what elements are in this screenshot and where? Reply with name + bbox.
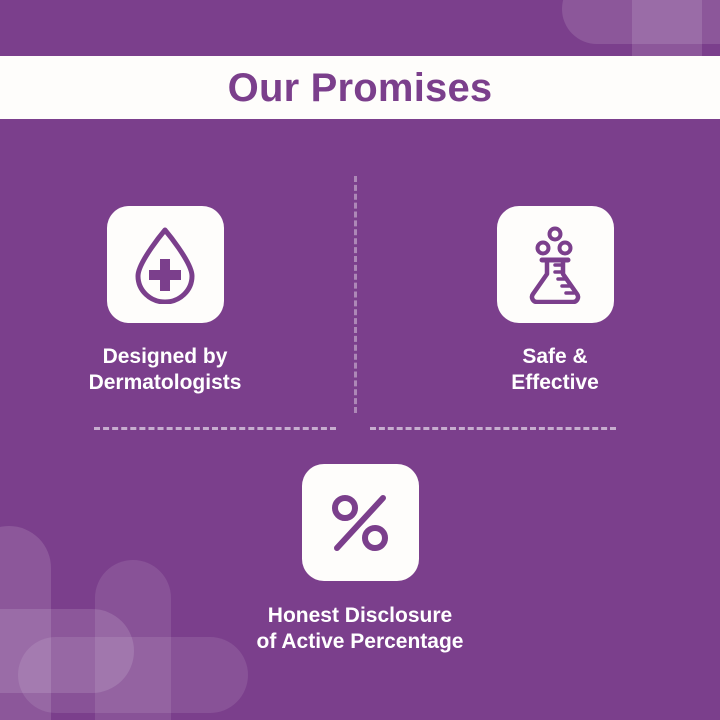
cross-horizontal-bar	[562, 0, 720, 44]
percent-slash	[337, 498, 383, 548]
promises-top-row: Designed by Dermatologists Safe & Effect…	[0, 206, 720, 396]
title-band: Our Promises	[0, 56, 720, 119]
horizontal-dashed-divider-left	[94, 427, 336, 430]
icon-card	[497, 206, 614, 323]
promise-label: Safe & Effective	[511, 344, 599, 396]
percent-icon	[327, 490, 393, 556]
bubble-right	[560, 242, 571, 253]
percent-lower-circle	[365, 528, 385, 548]
promise-label: Designed by Dermatologists	[89, 344, 242, 396]
promise-item-safe-and-effective: Safe & Effective	[430, 206, 680, 396]
icon-card	[107, 206, 224, 323]
promise-item-honest-disclosure: Honest Disclosure of Active Percentage	[235, 464, 485, 655]
icon-card	[302, 464, 419, 581]
flask-icon	[520, 226, 590, 304]
promise-label: Honest Disclosure of Active Percentage	[257, 603, 464, 655]
percent-upper-circle	[335, 498, 355, 518]
bubble-left	[538, 242, 549, 253]
promises-poster: Our Promises Designed by Dermatologists	[0, 0, 720, 720]
page-title: Our Promises	[228, 68, 493, 108]
droplet-plus-icon	[129, 226, 201, 304]
bubble-top	[550, 228, 561, 239]
promise-item-designed-by-dermatologists: Designed by Dermatologists	[40, 206, 290, 396]
horizontal-dashed-divider-right	[370, 427, 616, 430]
promises-bottom-row: Honest Disclosure of Active Percentage	[0, 464, 720, 655]
